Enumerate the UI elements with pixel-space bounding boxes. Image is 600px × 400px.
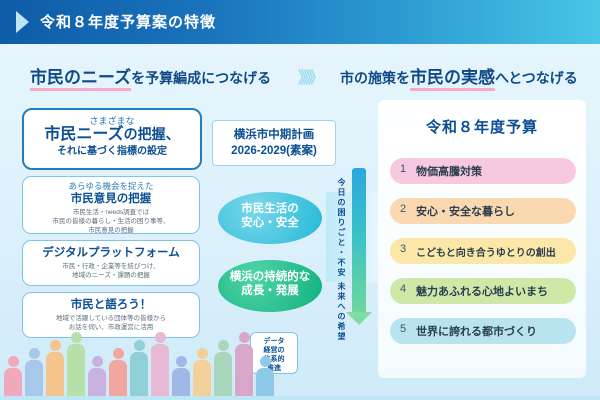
person-head: [239, 332, 250, 343]
budget-item-4[interactable]: 4 魅力あふれる心地よいまち: [390, 278, 576, 304]
person-silhouette: [151, 332, 169, 400]
person-head: [50, 340, 61, 351]
card-1-body: 市民・行政・企業等を結びつけ、 地域のニーズ・課題の把握: [27, 262, 195, 280]
person-body: [109, 360, 127, 398]
person-body: [193, 360, 211, 398]
person-silhouette: [214, 340, 232, 400]
ellipse-0-line1: 市民生活の: [218, 202, 322, 216]
person-body: [4, 368, 22, 398]
slide-canvas: 令和８年度予算案の特徴 市民のニーズを予算編成につなげる 》》》 市の施策を市民…: [0, 0, 600, 400]
page-title: 令和８年度予算案の特徴: [40, 11, 216, 32]
ellipse-1-line1: 横浜の持続的な: [218, 270, 322, 284]
person-head: [71, 332, 82, 343]
needs-box-line1: 市民ニーズの把握、: [24, 127, 200, 142]
person-silhouette: [235, 332, 253, 400]
ellipse-growth: 横浜の持続的な 成長・発展: [218, 260, 322, 312]
budget-item-3-number: 3: [400, 243, 406, 255]
card-talk-with-citizens: 市民と語ろう！ 地域で活躍している団体等の皆様から お話を伺い、市政運営に活用: [22, 292, 200, 338]
budget-panel: 令和８年度予算 1 物価高騰対策 2 安心・安全な暮らし 3 こどもと向き合うゆ…: [378, 100, 586, 378]
card-2-title: 市民と語ろう！: [23, 298, 199, 312]
banner-left-text: 市民のニーズを予算編成につなげる: [30, 63, 271, 88]
chevrons-right-icon: 》》》: [298, 64, 321, 88]
person-body: [256, 368, 274, 398]
bottom-divider: [0, 396, 600, 400]
person-silhouette: [67, 332, 85, 400]
card-citizen-opinions: あらゆる機会を捉えた 市民意見の把握 市民生活・needs調査では 市民の皆様の…: [22, 176, 200, 234]
budget-item-1-number: 1: [400, 163, 406, 175]
slide-header: 令和８年度予算案の特徴: [0, 0, 600, 44]
person-silhouette: [4, 356, 22, 400]
card-0-head: あらゆる機会を捉えた: [23, 180, 199, 192]
people-silhouettes-icon: [0, 336, 300, 400]
banner-right-rest: へとつなげる: [495, 70, 578, 86]
person-head: [197, 348, 208, 359]
budget-item-2-label: 安心・安全な暮らし: [416, 203, 515, 219]
person-silhouette: [88, 356, 106, 400]
person-silhouette: [172, 356, 190, 400]
plan-box-line2: 2026-2029(素案): [213, 142, 335, 158]
needs-box-line2: それに基づく指標の設定: [24, 142, 200, 157]
budget-item-4-number: 4: [400, 283, 406, 295]
budget-item-5[interactable]: 5 世界に誇れる都市づくり: [390, 318, 576, 344]
budget-item-3[interactable]: 3 こどもと向き合うゆとりの創出: [390, 238, 576, 264]
budget-item-5-number: 5: [400, 323, 406, 335]
down-arrow-icon: [346, 312, 372, 325]
midterm-plan-box: 横浜市中期計画 2026-2029(素案): [212, 120, 336, 166]
person-body: [130, 352, 148, 398]
person-head: [155, 332, 166, 343]
card-digital-platform: デジタルプラットフォーム 市民・行政・企業等を結びつけ、 地域のニーズ・課題の把…: [22, 240, 200, 286]
person-body: [46, 352, 64, 398]
person-body: [25, 360, 43, 398]
citizen-needs-box: さまざまな 市民ニーズの把握、 それに基づく指標の設定: [22, 108, 202, 170]
person-head: [29, 348, 40, 359]
banner-right-highlight: 市民の実感: [410, 68, 495, 91]
person-head: [92, 356, 103, 367]
person-silhouette: [256, 356, 274, 400]
person-body: [67, 344, 85, 398]
vbar-bottom-label: 未来への希望: [336, 282, 347, 342]
budget-item-1[interactable]: 1 物価高騰対策: [390, 158, 576, 184]
needs-box-line1-big: 市民ニーズ: [44, 126, 123, 143]
card-0-body: 市民生活・needs調査では 市民の皆様の暮らし・生活の困り事等、 市民意見の把…: [27, 208, 195, 235]
person-body: [151, 344, 169, 398]
person-silhouette: [109, 348, 127, 400]
card-0-title: 市民意見の把握: [23, 192, 199, 206]
person-body: [172, 368, 190, 398]
ellipse-safety: 市民生活の 安心・安全: [218, 192, 322, 244]
person-head: [176, 356, 187, 367]
person-head: [134, 340, 145, 351]
budget-item-2[interactable]: 2 安心・安全な暮らし: [390, 198, 576, 224]
budget-title: 令和８年度予算: [378, 116, 586, 137]
card-2-body: 地域で活躍している団体等の皆様から お話を伺い、市政運営に活用: [27, 314, 195, 332]
banner: 市民のニーズを予算編成につなげる 》》》 市の施策を市民の実感へとつなげる: [22, 60, 578, 90]
budget-item-3-label: こどもと向き合うゆとりの創出: [416, 244, 556, 259]
budget-item-4-label: 魅力あふれる心地よいまち: [416, 283, 548, 299]
person-head: [260, 356, 271, 367]
ellipse-1-line2: 成長・発展: [218, 284, 322, 298]
person-head: [8, 356, 19, 367]
person-silhouette: [193, 348, 211, 400]
person-silhouette: [25, 348, 43, 400]
flag-icon: [16, 11, 29, 33]
person-body: [88, 368, 106, 398]
banner-left-highlight: 市民のニーズ: [30, 68, 131, 91]
ellipse-0-line2: 安心・安全: [218, 216, 322, 230]
needs-box-line1-rest: の把握、: [124, 126, 180, 142]
card-1-title: デジタルプラットフォーム: [23, 246, 199, 260]
budget-item-5-label: 世界に誇れる都市づくり: [416, 323, 537, 339]
priority-gradient-bar: [352, 168, 366, 314]
person-silhouette: [46, 340, 64, 400]
person-body: [214, 352, 232, 398]
person-silhouette: [130, 340, 148, 400]
banner-right-text: 市の施策を市民の実感へとつなげる: [340, 63, 578, 88]
person-head: [218, 340, 229, 351]
budget-item-1-label: 物価高騰対策: [416, 163, 482, 179]
budget-item-2-number: 2: [400, 203, 406, 215]
plan-box-line1: 横浜市中期計画: [213, 126, 335, 142]
banner-left-rest: を予算編成につなげる: [131, 70, 271, 86]
vbar-top-label: 今日の困りごと・不安: [336, 178, 347, 278]
person-body: [235, 344, 253, 398]
person-head: [113, 348, 124, 359]
banner-right-pre: 市の施策を: [340, 70, 410, 86]
